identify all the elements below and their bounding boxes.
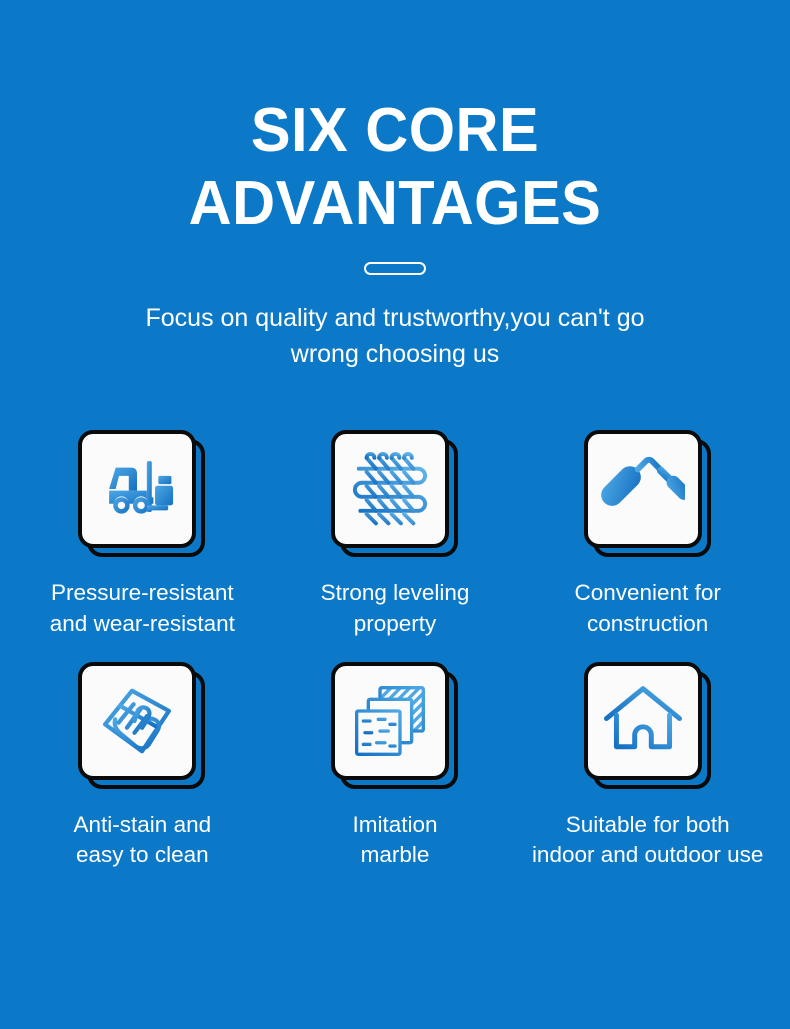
stacked-tiles-icon [348, 681, 432, 761]
title-divider-pill [364, 262, 426, 275]
feature-item-pressure-resistant: Pressure-resistant and wear-resistant [16, 430, 269, 639]
feature-caption-line-2: property [321, 609, 470, 640]
feature-caption: Pressure-resistant and wear-resistant [50, 578, 235, 639]
paint-roller-icon [601, 447, 685, 531]
house-icon [601, 682, 685, 760]
feature-item-strong-leveling: Strong leveling property [269, 430, 522, 639]
icon-card [584, 662, 702, 780]
icon-card-stack [331, 430, 459, 558]
feature-caption-line-1: Suitable for both [532, 810, 763, 841]
divider-wrap [0, 262, 790, 275]
feature-caption-line-1: Convenient for [574, 578, 720, 609]
page-title-line-1: SIX CORE [16, 94, 774, 167]
feature-item-imitation-marble: Imitation marble [269, 662, 522, 871]
feature-caption: Strong leveling property [321, 578, 470, 639]
hand-wiping-cloth-icon [95, 679, 179, 763]
icon-card-stack [78, 662, 206, 790]
icon-card-stack [78, 430, 206, 558]
page-header: SIX CORE ADVANTAGES Focus on quality and… [0, 0, 790, 372]
feature-caption: Anti-stain and easy to clean [74, 810, 212, 871]
feature-caption-line-1: Strong leveling [321, 578, 470, 609]
feature-caption-line-2: easy to clean [74, 840, 212, 871]
icon-card [584, 430, 702, 548]
page-subtitle: Focus on quality and trustworthy,you can… [0, 301, 790, 372]
feature-item-indoor-outdoor: Suitable for both indoor and outdoor use [521, 662, 774, 871]
icon-card-stack [331, 662, 459, 790]
icon-card [78, 662, 196, 780]
feature-caption-line-2: construction [574, 609, 720, 640]
icon-card [331, 430, 449, 548]
feature-caption: Suitable for both indoor and outdoor use [532, 810, 763, 871]
icon-card [331, 662, 449, 780]
feature-caption: Convenient for construction [574, 578, 720, 639]
page-subtitle-line-1: Focus on quality and trustworthy,you can… [60, 301, 730, 337]
feature-caption-line-1: Anti-stain and [74, 810, 212, 841]
feature-grid: Pressure-resistant and wear-resistant [0, 430, 790, 870]
page-subtitle-line-2: wrong choosing us [60, 337, 730, 373]
feature-caption-line-2: and wear-resistant [50, 609, 235, 640]
feature-caption-line-2: indoor and outdoor use [532, 840, 763, 871]
page-title: SIX CORE ADVANTAGES [16, 94, 774, 240]
feature-caption: Imitation marble [352, 810, 437, 871]
icon-card-stack [584, 662, 712, 790]
feature-caption-line-1: Pressure-resistant [50, 578, 235, 609]
icon-card-stack [584, 430, 712, 558]
feature-caption-line-2: marble [352, 840, 437, 871]
icon-card [78, 430, 196, 548]
feature-item-anti-stain: Anti-stain and easy to clean [16, 662, 269, 871]
page-title-line-2: ADVANTAGES [16, 167, 774, 240]
forklift-icon [96, 448, 178, 530]
feature-item-convenient-construction: Convenient for construction [521, 430, 774, 639]
advantages-page: SIX CORE ADVANTAGES Focus on quality and… [0, 0, 790, 1029]
wire-mesh-icon [351, 448, 429, 530]
feature-caption-line-1: Imitation [352, 810, 437, 841]
